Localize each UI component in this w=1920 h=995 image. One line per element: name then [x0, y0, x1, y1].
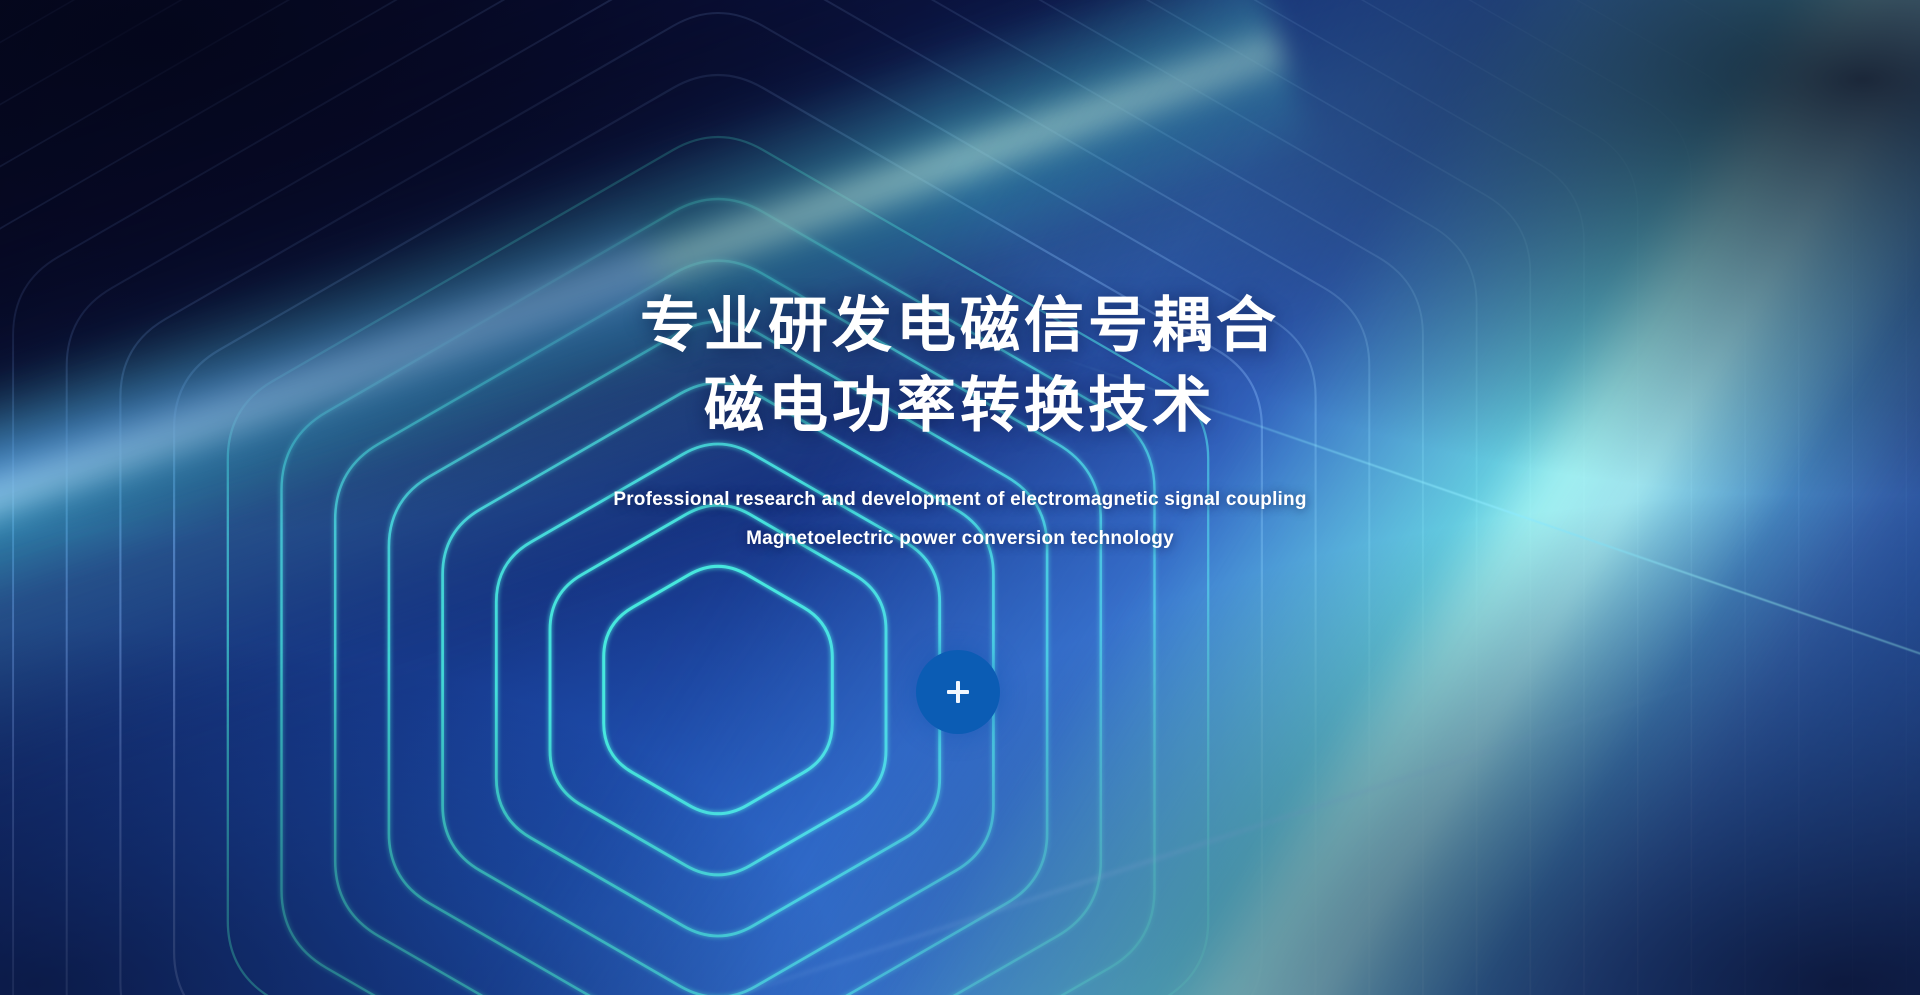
subtitle-line-2: Magnetoelectric power conversion technol… [0, 519, 1920, 559]
hero-copy: 专业研发电磁信号耦合 磁电功率转换技术 Professional researc… [0, 286, 1920, 559]
subtitle-line-1: Professional research and development of… [0, 480, 1920, 520]
plus-icon [947, 681, 969, 703]
hero-banner: 专业研发电磁信号耦合 磁电功率转换技术 Professional researc… [0, 0, 1920, 995]
hero-subtitle: Professional research and development of… [0, 480, 1920, 559]
page-title-line-1: 专业研发电磁信号耦合 [0, 286, 1920, 366]
expand-plus-button[interactable] [916, 650, 1000, 734]
hairline-streak-two [560, 669, 1737, 995]
page-title-line-2: 磁电功率转换技术 [0, 366, 1920, 446]
